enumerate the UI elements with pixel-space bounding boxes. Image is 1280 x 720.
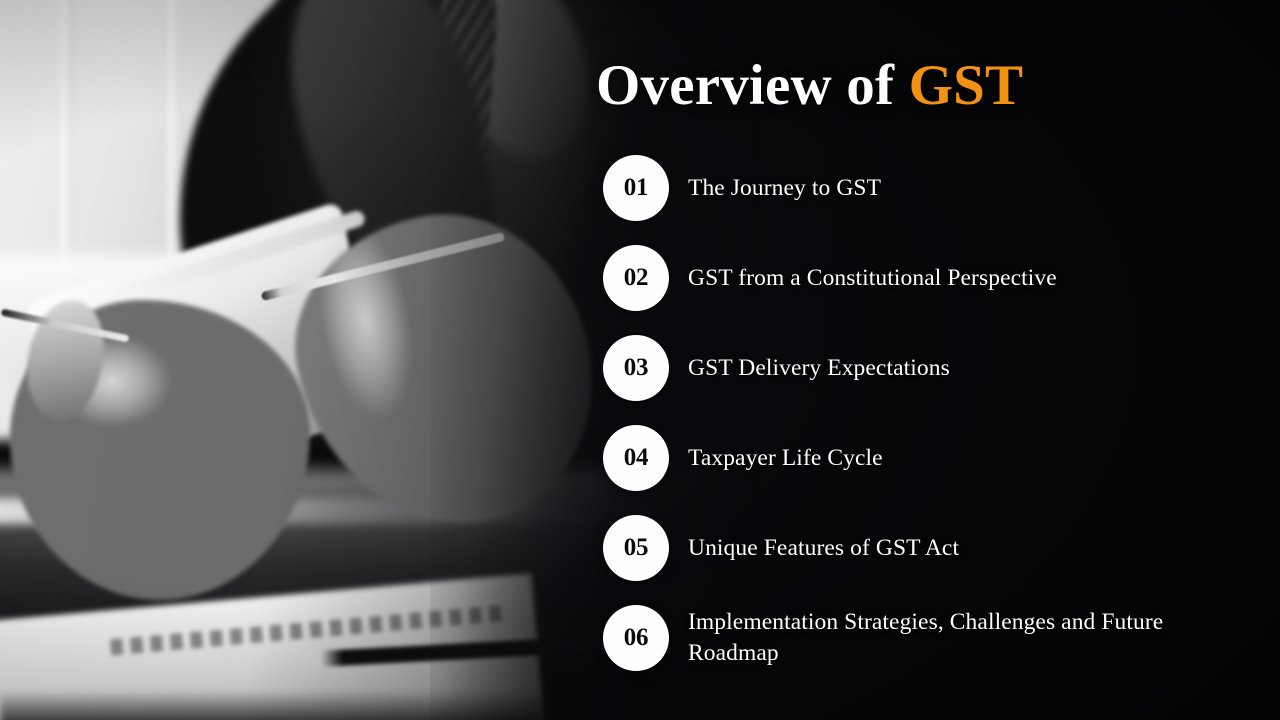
agenda-item-label: The Journey to GST <box>688 153 1248 223</box>
agenda-item-label: Implementation Strategies, Challenges an… <box>688 603 1248 673</box>
number-badge-label: 06 <box>624 625 648 650</box>
list-item[interactable]: 05 Unique Features of GST Act <box>600 513 1260 603</box>
list-item[interactable]: 02 GST from a Constitutional Perspective <box>600 243 1260 333</box>
number-badge-label: 05 <box>624 535 648 560</box>
number-badge-04: 04 <box>603 425 669 491</box>
number-badge-03: 03 <box>603 335 669 401</box>
title-primary-text: Overview of <box>596 54 894 117</box>
number-badge-02: 02 <box>603 245 669 311</box>
agenda-item-label: Unique Features of GST Act <box>688 513 1248 583</box>
list-item[interactable]: 04 Taxpayer Life Cycle <box>600 423 1260 513</box>
list-item[interactable]: 06 Implementation Strategies, Challenges… <box>600 603 1260 693</box>
number-badge-05: 05 <box>603 515 669 581</box>
number-badge-label: 04 <box>624 445 648 470</box>
slide-content: Overview of GST 01 The Journey to GST 02… <box>0 0 1280 720</box>
agenda-list: 01 The Journey to GST 02 GST from a Cons… <box>600 153 1260 693</box>
number-badge-label: 01 <box>624 175 648 200</box>
agenda-item-label: Taxpayer Life Cycle <box>688 423 1248 493</box>
number-badge-label: 02 <box>624 265 648 290</box>
title-accent-text: GST <box>909 54 1024 117</box>
number-badge-01: 01 <box>603 155 669 221</box>
agenda-item-label: GST from a Constitutional Perspective <box>688 243 1248 313</box>
number-badge-06: 06 <box>603 605 669 671</box>
page-title: Overview of GST <box>596 55 1023 117</box>
number-badge-label: 03 <box>624 355 648 380</box>
list-item[interactable]: 03 GST Delivery Expectations <box>600 333 1260 423</box>
list-item[interactable]: 01 The Journey to GST <box>600 153 1260 243</box>
presentation-slide: Overview of GST 01 The Journey to GST 02… <box>0 0 1280 720</box>
agenda-item-label: GST Delivery Expectations <box>688 333 1248 403</box>
